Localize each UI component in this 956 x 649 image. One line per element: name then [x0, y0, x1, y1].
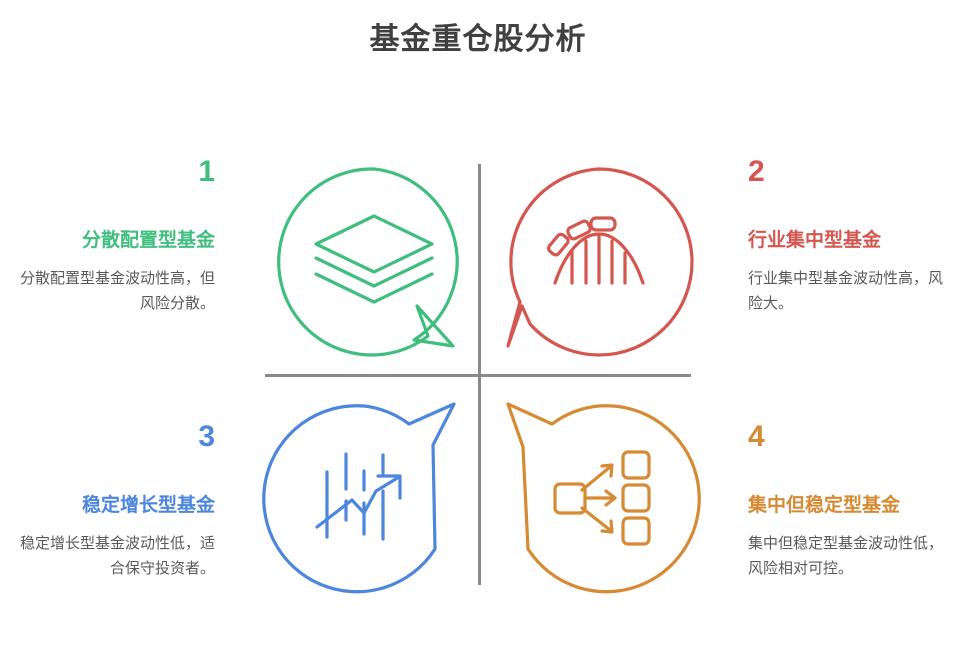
layer-top [316, 216, 432, 272]
quadrant-4-heading: 集中但稳定型基金 [748, 493, 948, 519]
quadrant-1-text: 1 分散配置型基金 分散配置型基金波动性高，但风险分散。 [15, 155, 215, 317]
quadrant-3-text: 3 稳定增长型基金 稳定增长型基金波动性低，适合保守投资者。 [15, 420, 215, 582]
quadrant-2-icon[interactable] [492, 156, 707, 371]
quadrant-3-number: 3 [15, 420, 215, 453]
quadrant-3-description: 稳定增长型基金波动性低，适合保守投资者。 [15, 531, 215, 582]
quadrant-1-description: 分散配置型基金波动性高，但风险分散。 [15, 266, 215, 317]
quadrant-2-text: 2 行业集中型基金 行业集中型基金波动性高，风险大。 [748, 155, 948, 317]
quadrant-2-description: 行业集中型基金波动性高，风险大。 [748, 266, 948, 317]
branch-lower [582, 508, 610, 530]
target-node-2 [623, 485, 649, 511]
divider-horizontal [265, 374, 691, 377]
speech-bubble-outline [279, 169, 457, 355]
quadrant-4-number: 4 [748, 420, 948, 453]
quadrant-3-icon[interactable] [257, 391, 472, 606]
layer-bottom [316, 274, 432, 302]
coaster-car-1 [591, 218, 615, 230]
speech-bubble-outline [264, 404, 454, 592]
target-node-1 [623, 452, 649, 478]
trend-line [317, 477, 399, 527]
quadrant-3-heading: 稳定增长型基金 [15, 493, 215, 519]
quadrant-1-number: 1 [15, 155, 215, 188]
quadrant-4-description: 集中但稳定型基金波动性低，风险相对可控。 [748, 531, 948, 582]
quadrant-2-heading: 行业集中型基金 [748, 228, 948, 254]
target-node-3 [623, 518, 649, 544]
quadrant-1-heading: 分散配置型基金 [15, 228, 215, 254]
quadrant-4-icon[interactable] [492, 391, 707, 606]
branch-upper [582, 467, 610, 490]
page-title: 基金重仓股分析 [0, 14, 956, 58]
source-node [555, 484, 585, 513]
quadrant-1-icon[interactable] [267, 156, 482, 371]
coaster-car-3 [547, 233, 570, 257]
quadrant-2-number: 2 [748, 155, 948, 188]
quadrant-4-text: 4 集中但稳定型基金 集中但稳定型基金波动性低，风险相对可控。 [748, 420, 948, 582]
